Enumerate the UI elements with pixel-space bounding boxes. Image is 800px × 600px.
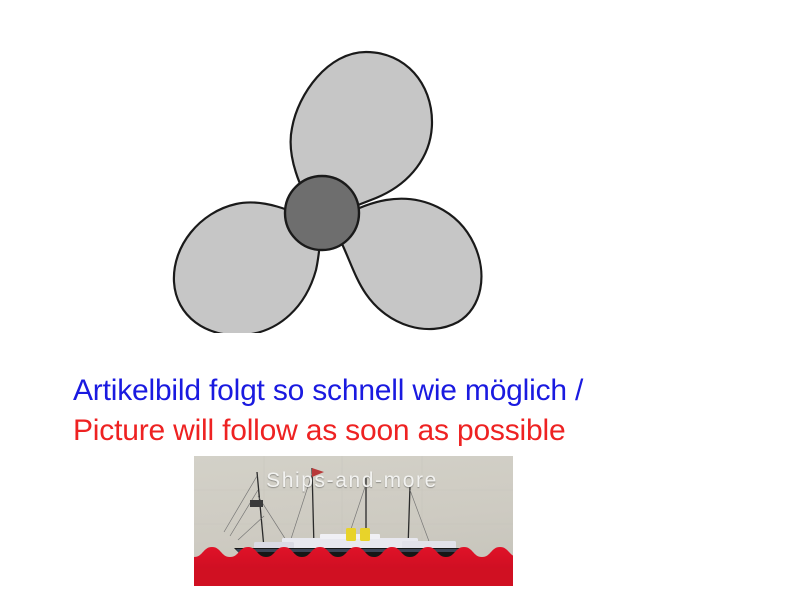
placeholder-message: Artikelbild folgt so schnell wie möglich… [73,371,733,451]
logo-water-base [194,568,513,586]
shop-logo-image: Ships-and-more [194,456,513,586]
mast-yard [250,500,263,507]
placeholder-page: Artikelbild folgt so schnell wie möglich… [0,0,800,600]
propeller-hub [285,176,359,250]
propeller-icon [160,38,490,333]
message-line-german: Artikelbild folgt so schnell wie möglich… [73,371,733,411]
message-line-english: Picture will follow as soon as possible [73,411,733,451]
